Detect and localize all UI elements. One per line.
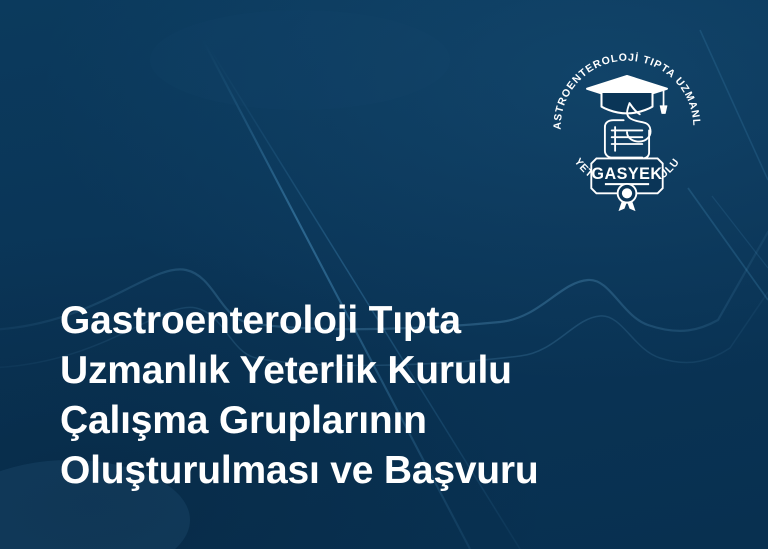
graduation-cap-icon <box>587 76 667 113</box>
gasyek-logo: GASTROENTEROLOJİ TIPTA UZMANLIK YETERLİL… <box>542 42 712 212</box>
page-title-line-2: Uzmanlık Yeterlik Kurulu <box>60 346 620 396</box>
award-rosette-icon <box>618 184 637 211</box>
page-title-line-3: Çalışma Gruplarının <box>60 396 620 446</box>
gasyek-logo-svg: GASTROENTEROLOJİ TIPTA UZMANLIK YETERLİL… <box>542 42 712 212</box>
announcement-banner: GASTROENTEROLOJİ TIPTA UZMANLIK YETERLİL… <box>0 0 768 549</box>
page-title-line-4: Oluşturulması ve Başvuru <box>60 446 620 496</box>
logo-acronym: GASYEK <box>591 165 662 183</box>
page-title-line-1: Gastroenteroloji Tıpta <box>60 296 620 346</box>
page-title: Gastroenteroloji Tıpta Uzmanlık Yeterlik… <box>60 296 620 496</box>
